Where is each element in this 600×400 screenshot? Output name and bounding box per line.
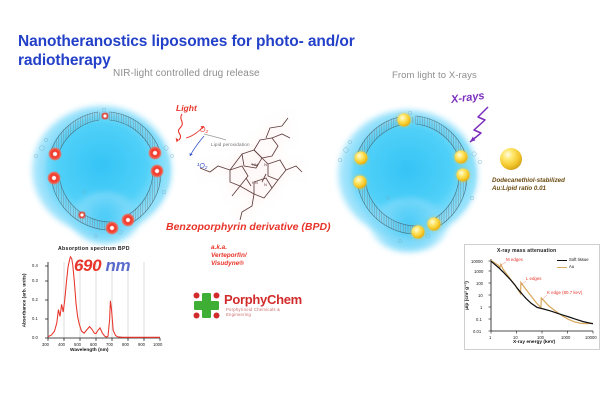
abs-xtick-5: 800 (122, 342, 129, 347)
au-nanoparticle-node (428, 218, 441, 231)
svg-text:N: N (264, 182, 267, 187)
abs-xtick-4: 700 (106, 342, 113, 347)
au-caption-line-1: Dodecanethiol-stabilized (492, 177, 565, 185)
left-panel-subtitle: NIR-light controlled drug release (113, 68, 260, 79)
drug-cargo-node (102, 113, 109, 120)
xray-ytick-5: 1000 (474, 269, 483, 274)
xray-xaxis-label: X-ray energy (keV) (513, 340, 555, 345)
porphyrin-logo-icon (192, 291, 222, 321)
abs-ytick-2: 0.2 (32, 297, 38, 302)
bpd-node (106, 222, 119, 235)
peak-690nm-callout: 690 nm (74, 256, 130, 276)
abs-xtick-2: 500 (74, 342, 81, 347)
right-panel-subtitle: From light to X-rays (392, 70, 477, 81)
legend-label-au: Au (569, 264, 574, 269)
xray-wave-arrow (452, 103, 500, 145)
au-nanoparticle-node (355, 152, 368, 165)
legend-swatch-au (557, 267, 567, 268)
bpd-molecular-structure: NHN HNN (196, 108, 308, 220)
xray-xtick-4: 10000 (585, 335, 597, 340)
abs-xtick-0: 300 (42, 342, 49, 347)
page-title: Nanotheranostics liposomes for photo- an… (18, 32, 388, 70)
xray-ytick-6: 10000 (471, 259, 483, 264)
poster-canvas: Nanotheranostics liposomes for photo- an… (0, 0, 600, 400)
bpd-node (49, 148, 62, 161)
xray-xtick-0: 1 (489, 335, 491, 340)
xray-ytick-4: 100 (476, 281, 483, 286)
au-nanoparticle-icon (500, 148, 522, 170)
bpd-node (122, 214, 135, 227)
svg-text:HN: HN (252, 180, 258, 185)
au-nanoparticle-node (455, 151, 468, 164)
bpd-node (48, 172, 61, 185)
porphychem-logo: PorphyChem Porphyrinoid Chemicals & Engi… (192, 290, 296, 326)
alias-line-2: Verteporfin/ (211, 252, 247, 260)
legend-label-soft-tissue: Soft tissue (569, 257, 589, 262)
au-nanoparticle-node (457, 169, 470, 182)
abs-xaxis-label: Wavelength (nm) (70, 348, 108, 353)
au-nanoparticle-caption: Dodecanethiol-stabilized Au:Lipid ratio … (492, 177, 565, 193)
xray-ytick-3: 10 (478, 293, 483, 298)
xray-attenuation-chart: X-ray mass attenuation (464, 244, 600, 350)
xray-ytick-1: 0.1 (476, 317, 482, 322)
abs-xtick-3: 600 (90, 342, 97, 347)
light-label: Light (176, 103, 197, 113)
annotation-l-edges: L edges (526, 276, 541, 281)
peak-unit: nm (106, 256, 131, 275)
au-nanoparticle-node (398, 114, 411, 127)
xray-ytick-0: 0.01 (473, 329, 481, 334)
legend-swatch-soft-tissue (557, 260, 567, 261)
abs-ytick-3: 0.3 (32, 278, 38, 283)
alias-line-3: Visudyne® (211, 260, 247, 268)
drug-cargo-node (79, 212, 86, 219)
annotation-m-edges: M edges (506, 257, 523, 262)
au-nanoparticle-node (354, 176, 367, 189)
svg-text:NH: NH (252, 162, 258, 167)
xray-xtick-3: 1000 (561, 335, 570, 340)
bpd-node (149, 147, 162, 160)
abs-yaxis-label: Absorbance (arb. units) (22, 274, 27, 328)
logo-wordmark: PorphyChem (224, 292, 302, 307)
bpd-alias-label: a.k.a. Verteporfin/ Visudyne® (211, 244, 247, 268)
bpd-name-label: Benzoporphyrin derivative (BPD) (166, 221, 331, 233)
au-nanoparticle-node (412, 226, 425, 239)
logo-tagline: Porphyrinoid Chemicals & Engineering (226, 307, 296, 317)
alias-line-1: a.k.a. (211, 244, 247, 252)
xray-yaxis-label: μ/ρ (cm² g⁻¹) (465, 281, 470, 310)
abs-xtick-1: 400 (58, 342, 65, 347)
xray-ytick-2: 1 (480, 305, 482, 310)
abs-xtick-6: 900 (138, 342, 145, 347)
abs-ytick-4: 0.4 (32, 263, 38, 268)
annotation-k-edge: K edge (80.7 keV) (547, 290, 582, 295)
svg-text:N: N (264, 162, 267, 167)
abs-ytick-1: 0.1 (32, 316, 38, 321)
abs-xtick-7: 1000 (153, 342, 162, 347)
bpd-node (151, 165, 164, 178)
au-caption-line-2: Au:Lipid ratio 0.01 (492, 185, 565, 193)
peak-value: 690 (74, 256, 101, 275)
abs-ytick-0: 0.0 (32, 335, 38, 340)
